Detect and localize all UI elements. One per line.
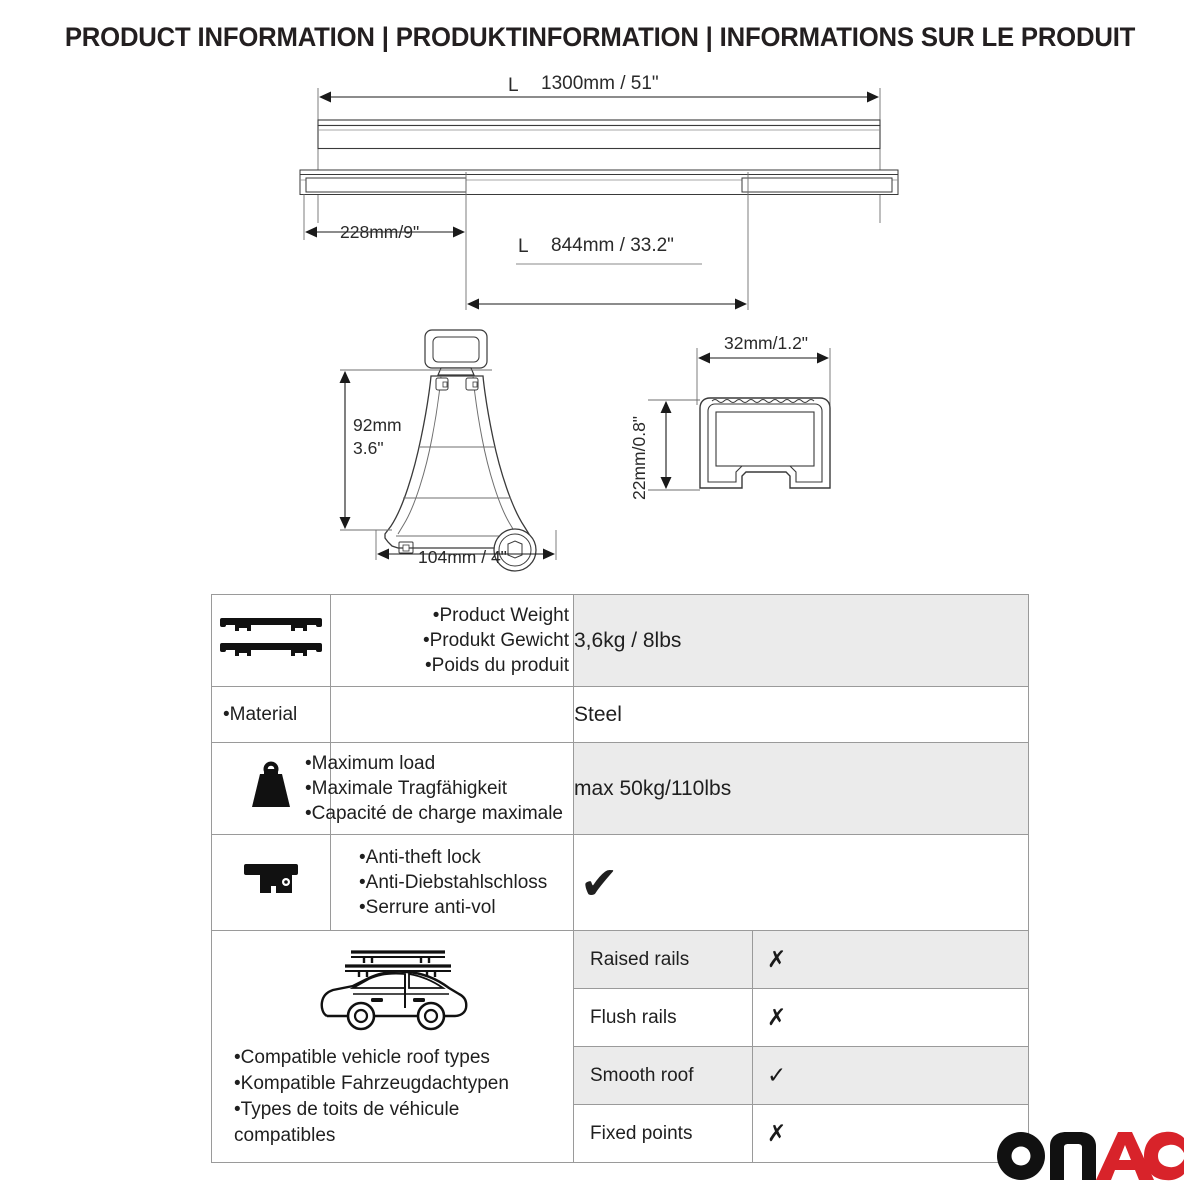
label-line: •Serrure anti-vol xyxy=(359,895,569,920)
car-icon-wrap xyxy=(212,938,573,1039)
specification-table: •Product Weight •Produkt Gewicht •Poids … xyxy=(211,594,1029,1163)
span-prefix: L xyxy=(518,236,529,258)
foot-height-dim-inch: 3.6" xyxy=(353,438,384,459)
foot-width-dim: 104mm / 4" xyxy=(418,547,507,568)
lock-icon xyxy=(240,860,302,900)
roof-type-support: ✗ xyxy=(753,1105,1029,1163)
label-line: •Maximum load xyxy=(305,751,569,776)
product-weight-icon-cell xyxy=(212,595,331,687)
max-load-value: max 50kg/110lbs xyxy=(574,743,1029,835)
label-line: •Product Weight xyxy=(331,603,569,628)
label-line: •Produkt Gewicht xyxy=(331,628,569,653)
roof-type-row: Raised rails ✗ xyxy=(574,931,1028,989)
label-line: •Types de toits de véhicule xyxy=(234,1097,569,1123)
car-with-rack-icon xyxy=(309,938,477,1034)
check-mark-icon: ✔ xyxy=(574,860,619,906)
roof-type-support: ✗ xyxy=(753,989,1029,1047)
profile-height-dim: 22mm/0.8" xyxy=(629,416,650,500)
product-weight-labels-cell: •Product Weight •Produkt Gewicht •Poids … xyxy=(331,595,574,687)
roof-type-name: Fixed points xyxy=(574,1105,753,1163)
material-label-cell: •Material xyxy=(331,687,574,743)
drawing-svg xyxy=(0,60,1200,590)
anti-theft-icon-cell xyxy=(212,835,331,931)
anti-theft-value: ✔ xyxy=(574,835,1029,931)
roof-types-label-cell: •Compatible vehicle roof types •Kompatib… xyxy=(212,931,574,1163)
product-information-page: PRODUCT INFORMATION | PRODUKTINFORMATION… xyxy=(0,0,1200,1200)
technical-drawing: L 1300mm / 51" 228mm/9" L 844mm / 33.2" … xyxy=(0,60,1200,590)
label-line: •Kompatible Fahrzeugdachtypen xyxy=(234,1071,569,1097)
roof-type-name: Flush rails xyxy=(574,989,753,1047)
product-weight-value: 3,6kg / 8lbs xyxy=(574,595,1029,687)
roof-type-row: Fixed points ✗ xyxy=(574,1105,1028,1163)
table-row: •Anti-theft lock •Anti-Diebstahlschloss … xyxy=(212,835,1029,931)
profile-width-dim: 32mm/1.2" xyxy=(724,333,808,354)
material-value: Steel xyxy=(574,687,1029,743)
table-row: •Product Weight •Produkt Gewicht •Poids … xyxy=(212,595,1029,687)
roof-type-name: Raised rails xyxy=(574,931,753,989)
label-line: •Anti-theft lock xyxy=(359,845,569,870)
roof-type-row: Smooth roof ✓ xyxy=(574,1047,1028,1105)
check-mark-icon: ✓ xyxy=(767,1063,786,1089)
table-row: •Maximum load •Maximale Tragfähigkeit •C… xyxy=(212,743,1029,835)
overall-length-dim: 1300mm / 51" xyxy=(541,73,659,95)
cross-mark-icon: ✗ xyxy=(767,947,786,973)
label-line: •Capacité de charge maximale xyxy=(305,801,569,826)
weight-icon xyxy=(242,757,300,815)
label-line: compatibles xyxy=(234,1123,569,1149)
foot-height-dim: 92mm xyxy=(353,415,402,436)
label-line: •Maximale Tragfähigkeit xyxy=(305,776,569,801)
page-title: PRODUCT INFORMATION | PRODUKTINFORMATION… xyxy=(18,22,1182,53)
roof-type-support: ✗ xyxy=(753,931,1029,989)
cross-mark-icon: ✗ xyxy=(767,1005,786,1031)
table-row: •Compatible vehicle roof types •Kompatib… xyxy=(212,931,1029,1163)
omac-logo-svg xyxy=(988,1116,1184,1182)
roof-types-subtable-cell: Raised rails ✗ Flush rails ✗ xyxy=(574,931,1029,1163)
crossbars-icon xyxy=(217,612,325,664)
anti-theft-labels-cell: •Anti-theft lock •Anti-Diebstahlschloss … xyxy=(331,835,574,931)
label-line: •Anti-Diebstahlschloss xyxy=(359,870,569,895)
label-line: •Material xyxy=(223,704,297,725)
max-load-labels-cell: •Maximum load •Maximale Tragfähigkeit •C… xyxy=(331,743,574,835)
label-line: •Poids du produit xyxy=(331,653,569,678)
overall-length-prefix: L xyxy=(508,75,519,97)
span-dim: 844mm / 33.2" xyxy=(551,235,674,257)
offset-left-dim: 228mm/9" xyxy=(340,222,419,243)
cross-mark-icon: ✗ xyxy=(767,1121,786,1147)
table-row: •Material Steel xyxy=(212,687,1029,743)
roof-type-name: Smooth roof xyxy=(574,1047,753,1105)
roof-type-support: ✓ xyxy=(753,1047,1029,1105)
omac-logo xyxy=(988,1116,1184,1182)
roof-types-table: Raised rails ✗ Flush rails ✗ xyxy=(574,931,1028,1162)
label-line: •Compatible vehicle roof types xyxy=(234,1045,569,1071)
roof-type-row: Flush rails ✗ xyxy=(574,989,1028,1047)
